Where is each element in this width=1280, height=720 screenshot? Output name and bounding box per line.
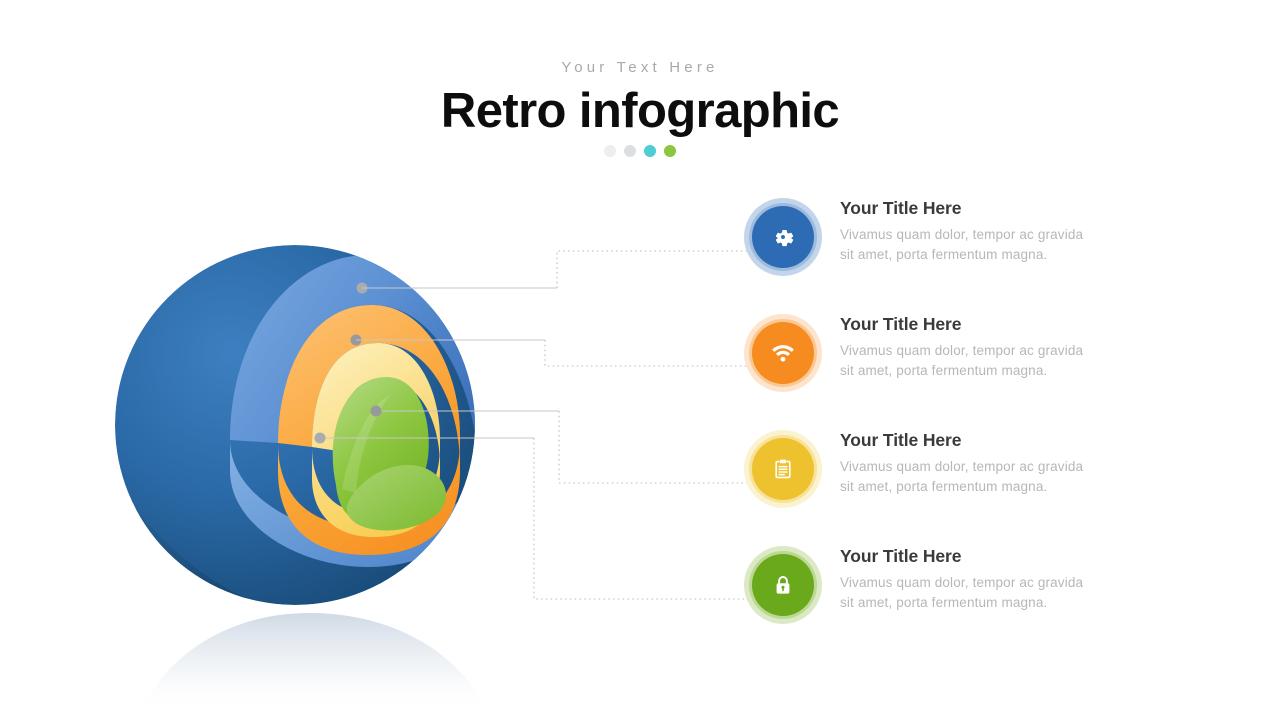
page-title: Retro infographic [0,82,1280,140]
lock-icon [771,573,795,597]
eyebrow-text: Your Text Here [0,58,1280,78]
header-dots [0,145,1280,157]
item-text-1: Your Title Here Vivamus quam dolor, temp… [840,197,1085,265]
header-dot-2 [624,145,636,157]
item-description: Vivamus quam dolor, tempor ac gravida si… [840,573,1085,613]
info-item-1[interactable]: Your Title Here Vivamus quam dolor, temp… [752,197,1152,313]
item-title: Your Title Here [840,545,1085,567]
badge-1[interactable] [752,206,814,268]
badge-core [752,322,814,384]
header: Your Text Here Retro infographic [0,0,1280,157]
gear-icon [770,224,796,250]
item-title: Your Title Here [840,313,1085,335]
info-item-2[interactable]: Your Title Here Vivamus quam dolor, temp… [752,313,1152,429]
item-text-2: Your Title Here Vivamus quam dolor, temp… [840,313,1085,381]
header-dot-4 [664,145,676,157]
badge-3[interactable] [752,438,814,500]
sphere-reflection [140,613,488,713]
header-dot-1 [604,145,616,157]
badge-core [752,438,814,500]
info-item-3[interactable]: Your Title Here Vivamus quam dolor, temp… [752,429,1152,545]
item-title: Your Title Here [840,197,1085,219]
layered-sphere-graphic [110,235,510,715]
info-items-list: Your Title Here Vivamus quam dolor, temp… [752,197,1152,661]
marker-dot-1 [357,283,368,294]
wifi-icon [769,339,797,367]
clipboard-icon [771,457,795,481]
item-description: Vivamus quam dolor, tempor ac gravida si… [840,225,1085,265]
item-title: Your Title Here [840,429,1085,451]
badge-4[interactable] [752,554,814,616]
marker-dot-2 [351,335,362,346]
item-text-4: Your Title Here Vivamus quam dolor, temp… [840,545,1085,613]
item-text-3: Your Title Here Vivamus quam dolor, temp… [840,429,1085,497]
item-description: Vivamus quam dolor, tempor ac gravida si… [840,341,1085,381]
badge-2[interactable] [752,322,814,384]
info-item-4[interactable]: Your Title Here Vivamus quam dolor, temp… [752,545,1152,661]
item-description: Vivamus quam dolor, tempor ac gravida si… [840,457,1085,497]
badge-core [752,554,814,616]
header-dot-3 [644,145,656,157]
badge-core [752,206,814,268]
